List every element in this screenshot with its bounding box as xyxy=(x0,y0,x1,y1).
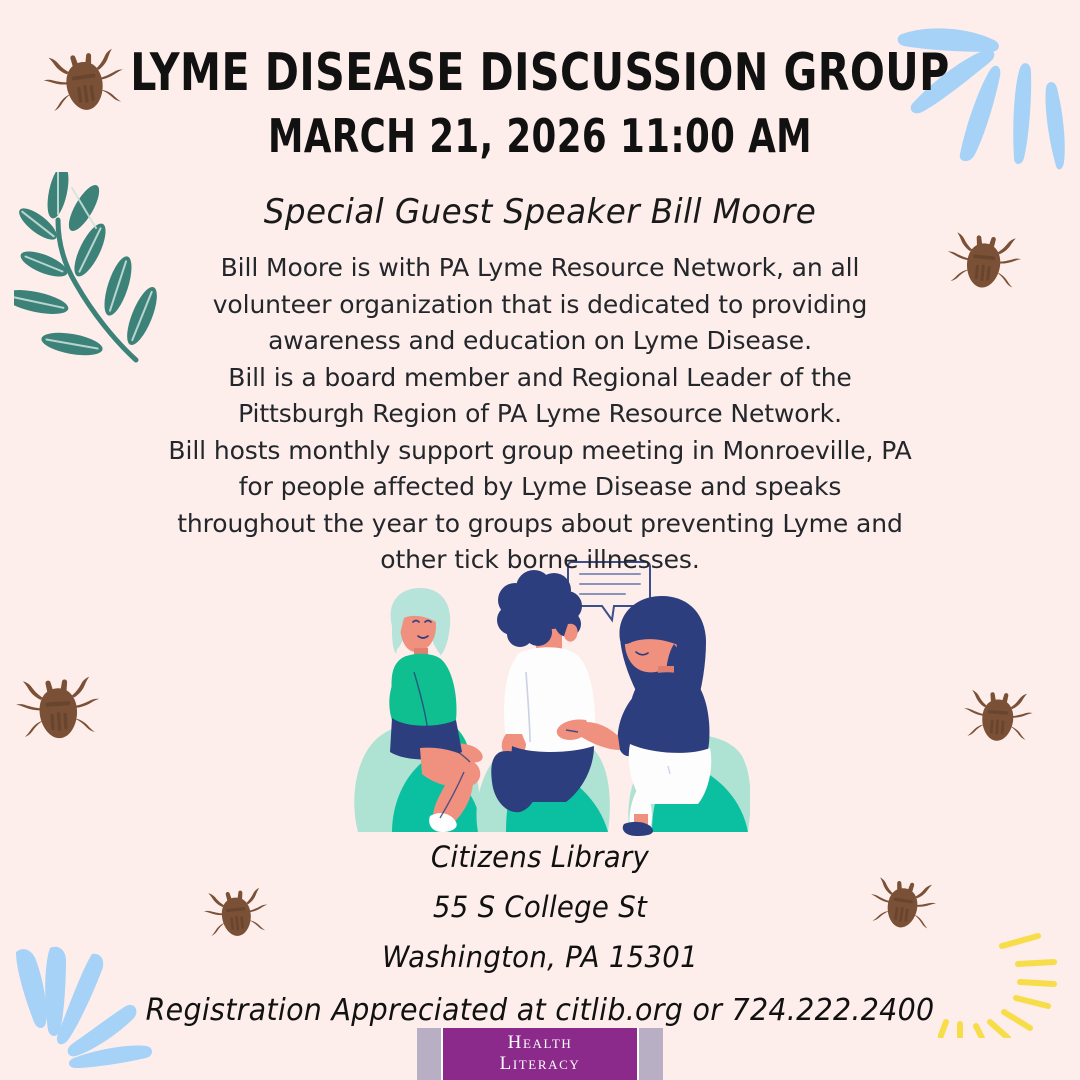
tick-icon-mid-right xyxy=(952,669,1044,761)
health-literacy-logo: Health Literacy xyxy=(417,1028,663,1080)
logo-line-1: Health xyxy=(508,1033,573,1054)
poster-canvas: LYME DISEASE DISCUSSION GROUP MARCH 21, … xyxy=(0,0,1080,1080)
footer-contact-block: Citizens Library 55 S College St Washing… xyxy=(60,833,1020,1036)
body-line: awareness and education on Lyme Disease. xyxy=(120,323,960,360)
logo-right-bar xyxy=(639,1028,663,1080)
body-line: for people affected by Lyme Disease and … xyxy=(120,469,960,506)
page-title-line-1: LYME DISEASE DISCUSSION GROUP xyxy=(65,46,1015,101)
logo-center-panel: Health Literacy xyxy=(441,1028,639,1080)
speaker-subtitle: Special Guest Speaker Bill Moore xyxy=(22,192,1059,232)
body-line: throughout the year to groups about prev… xyxy=(120,506,960,543)
three-people-discussion-illustration xyxy=(330,552,750,837)
body-line: Bill Moore is with PA Lyme Resource Netw… xyxy=(120,250,960,287)
body-line: Bill hosts monthly support group meeting… xyxy=(120,433,960,470)
body-description: Bill Moore is with PA Lyme Resource Netw… xyxy=(120,250,960,579)
venue-street: 55 S College St xyxy=(84,883,996,933)
page-title-line-2: MARCH 21, 2026 11:00 AM xyxy=(76,109,1005,164)
venue-city-state-zip: Washington, PA 15301 xyxy=(84,933,996,983)
logo-left-bar xyxy=(417,1028,441,1080)
body-line: Pittsburgh Region of PA Lyme Resource Ne… xyxy=(120,396,960,433)
body-line: volunteer organization that is dedicated… xyxy=(120,287,960,324)
venue-name: Citizens Library xyxy=(84,833,996,883)
logo-line-2: Literacy xyxy=(500,1054,581,1075)
body-line: Bill is a board member and Regional Lead… xyxy=(120,360,960,397)
person-center-back-view xyxy=(491,570,595,812)
tick-icon-mid-left xyxy=(2,651,113,762)
body-line: other tick borne illnesses. xyxy=(120,542,960,579)
header-title-block: LYME DISEASE DISCUSSION GROUP MARCH 21, … xyxy=(0,46,1080,164)
